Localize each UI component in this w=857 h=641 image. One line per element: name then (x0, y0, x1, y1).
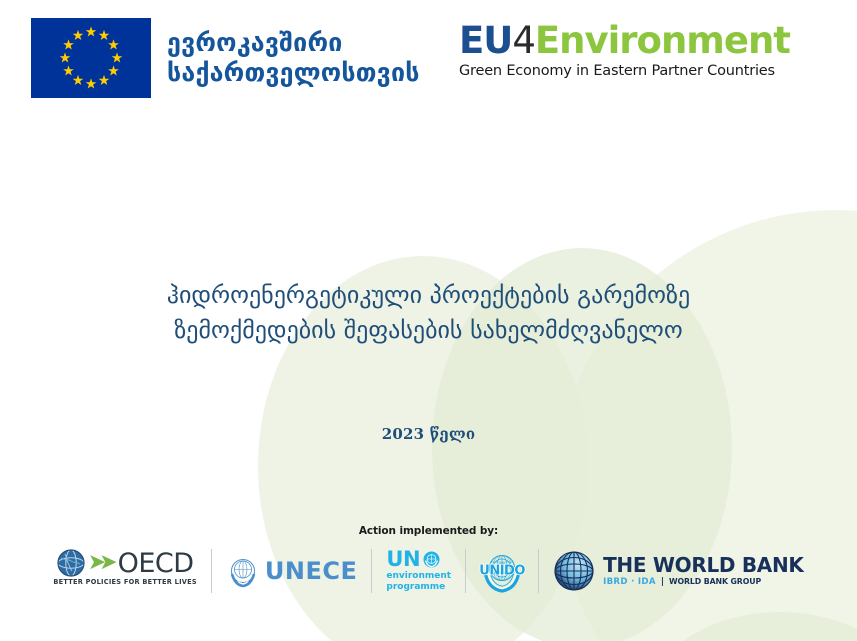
oecd-globe-icon (57, 549, 85, 577)
eu4environment-tagline: Green Economy in Eastern Partner Countri… (459, 63, 790, 79)
unep-logo: UN environment programme (372, 549, 465, 593)
oecd-wordmark: OECD (118, 550, 194, 577)
page-footer: Action implemented by: ➤➤ OECD BE (0, 525, 857, 593)
unido-emblem-wrap: UNIDO (480, 549, 524, 593)
oecd-wordmark-row: ➤➤ OECD (57, 549, 194, 577)
decor-circle-bottom (655, 612, 857, 641)
world-bank-text: THE WORLD BANK IBRD · IDA | WORLD BANK G… (603, 555, 804, 587)
eu-logo-lockup: ევროკავშირი საქართველოსთვის (31, 18, 420, 98)
oecd-chevron-icon: ➤➤ (88, 552, 111, 574)
oecd-logo: ➤➤ OECD BETTER POLICIES FOR BETTER LIVES (39, 549, 211, 593)
world-bank-pipe-divider: | (661, 577, 664, 587)
eu4environment-logo: EU4Environment Green Economy in Eastern … (459, 22, 790, 79)
partner-logo-row: ➤➤ OECD BETTER POLICIES FOR BETTER LIVES (0, 549, 857, 593)
unep-tagline: environment programme (386, 571, 451, 592)
publication-year: 2023 წელი (0, 425, 857, 443)
eu4env-environment-text: Environment (535, 19, 790, 62)
eu4env-eu-text: EU (459, 19, 512, 62)
eu4environment-wordmark: EU4Environment (459, 22, 790, 59)
oecd-tagline: BETTER POLICIES FOR BETTER LIVES (53, 578, 197, 586)
un-emblem-icon (226, 554, 260, 588)
eu-for-georgia-text: ევროკავშირი საქართველოსთვის (167, 28, 420, 89)
world-bank-wordmark: THE WORLD BANK (603, 555, 804, 576)
world-bank-logo: THE WORLD BANK IBRD · IDA | WORLD BANK G… (539, 549, 818, 593)
unece-logo: UNECE (212, 549, 371, 593)
cover-page: ევროკავშირი საქართველოსთვის EU4Environme… (0, 0, 857, 641)
eu-flag-icon (31, 18, 151, 98)
page-header: ევროკავშირი საქართველოსთვის EU4Environme… (0, 0, 857, 112)
un-emblem-small-icon (423, 551, 440, 568)
unido-logo: UNIDO (466, 549, 538, 593)
implemented-by-label: Action implemented by: (0, 525, 857, 537)
world-bank-subline: IBRD · IDA | WORLD BANK GROUP (603, 577, 804, 587)
title-block: ჰიდროენერგეტიკული პროექტების გარემოზე ზე… (0, 278, 857, 443)
unep-un-wordmark: UN (386, 549, 420, 570)
page-title: ჰიდროენერგეტიკული პროექტების გარემოზე ზე… (0, 278, 857, 347)
unido-wordmark: UNIDO (479, 564, 525, 579)
unep-wordmark-row: UN (386, 549, 440, 570)
world-bank-ibrd-ida: IBRD · IDA (603, 577, 656, 587)
unece-wordmark: UNECE (265, 559, 357, 583)
world-bank-group-text: WORLD BANK GROUP (669, 577, 761, 586)
eu4env-four-text: 4 (512, 19, 535, 62)
world-bank-globe-icon (553, 550, 595, 592)
